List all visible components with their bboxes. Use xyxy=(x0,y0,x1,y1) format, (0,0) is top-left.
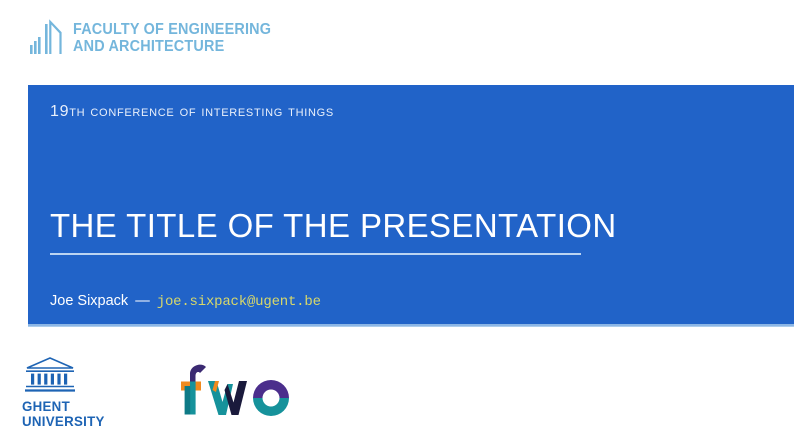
author-email[interactable]: joe.sixpack@ugent.be xyxy=(157,294,321,310)
title-banner: 19th Conference of Interesting Things TH… xyxy=(28,85,794,326)
conference-name: 19th Conference of Interesting Things xyxy=(50,103,334,121)
faculty-bars-building-icon xyxy=(30,18,64,54)
faculty-logo: FACULTY OF ENGINEERING AND ARCHITECTURE xyxy=(30,18,286,55)
fwo-logo xyxy=(170,360,290,422)
ghent-university-line1: GHENT xyxy=(22,399,109,414)
banner-bottom-edge xyxy=(28,324,794,327)
page-title: THE TITLE OF THE PRESENTATION xyxy=(50,207,754,245)
author-line: Joe Sixpack — joe.sixpack@ugent.be xyxy=(50,293,321,310)
faculty-logo-line1: FACULTY OF ENGINEERING xyxy=(73,21,271,38)
title-underline xyxy=(50,253,581,255)
title-block: THE TITLE OF THE PRESENTATION xyxy=(50,207,754,255)
footer-logos: GHENT UNIVERSITY xyxy=(0,352,794,447)
faculty-logo-text: FACULTY OF ENGINEERING AND ARCHITECTURE xyxy=(73,18,271,55)
author-separator: — xyxy=(132,293,153,309)
ghent-university-logo: GHENT UNIVERSITY xyxy=(22,355,114,429)
author-name: Joe Sixpack xyxy=(50,293,128,309)
fwo-wordmark-icon xyxy=(170,360,290,422)
ghent-university-line2: UNIVERSITY xyxy=(22,414,109,429)
title-slide: FACULTY OF ENGINEERING AND ARCHITECTURE … xyxy=(0,0,794,447)
classical-temple-icon xyxy=(22,355,78,395)
ghent-university-text: GHENT UNIVERSITY xyxy=(22,399,109,429)
faculty-logo-line2: AND ARCHITECTURE xyxy=(73,38,271,55)
